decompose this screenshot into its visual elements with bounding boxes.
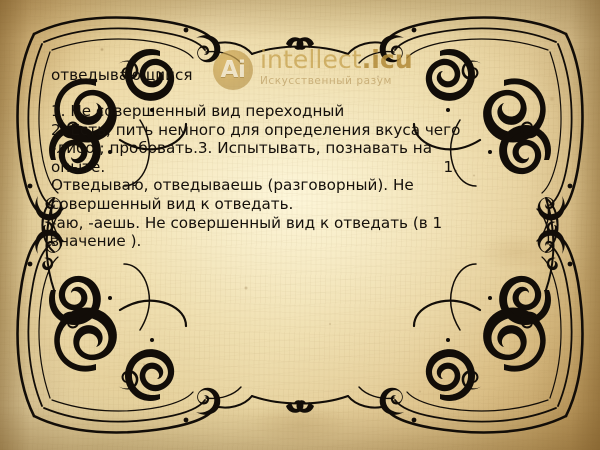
article-line: -либо ; пробовать.3. Испытывать, познава…	[51, 139, 521, 158]
headword: отведывающийся	[51, 66, 521, 84]
article-spacer	[51, 84, 521, 102]
article-line: значение ).	[51, 232, 521, 251]
article-line: Отведываю, отведываешь (разговорный). Не	[51, 176, 521, 195]
dictionary-article: отведывающийся 1. Не совершенный вид пер…	[51, 66, 521, 251]
article-senses: 1. Не совершенный вид переходный 2. Есть…	[51, 102, 521, 251]
article-line-with-marker: опыте. 1.	[51, 158, 458, 177]
slide-canvas: Ai intellect.icu Искусственный разум отв…	[0, 0, 600, 450]
article-line: 2. Есть, пить немного для определения вк…	[51, 121, 521, 140]
article-line: совершенный вид к отведать.	[51, 195, 521, 214]
article-line: -аю, -аешь. Не совершенный вид к отведат…	[51, 214, 521, 233]
article-line: 1. Не совершенный вид переходный	[51, 102, 521, 121]
article-line-text: опыте.	[51, 158, 105, 177]
sense-marker: 1.	[444, 158, 459, 177]
